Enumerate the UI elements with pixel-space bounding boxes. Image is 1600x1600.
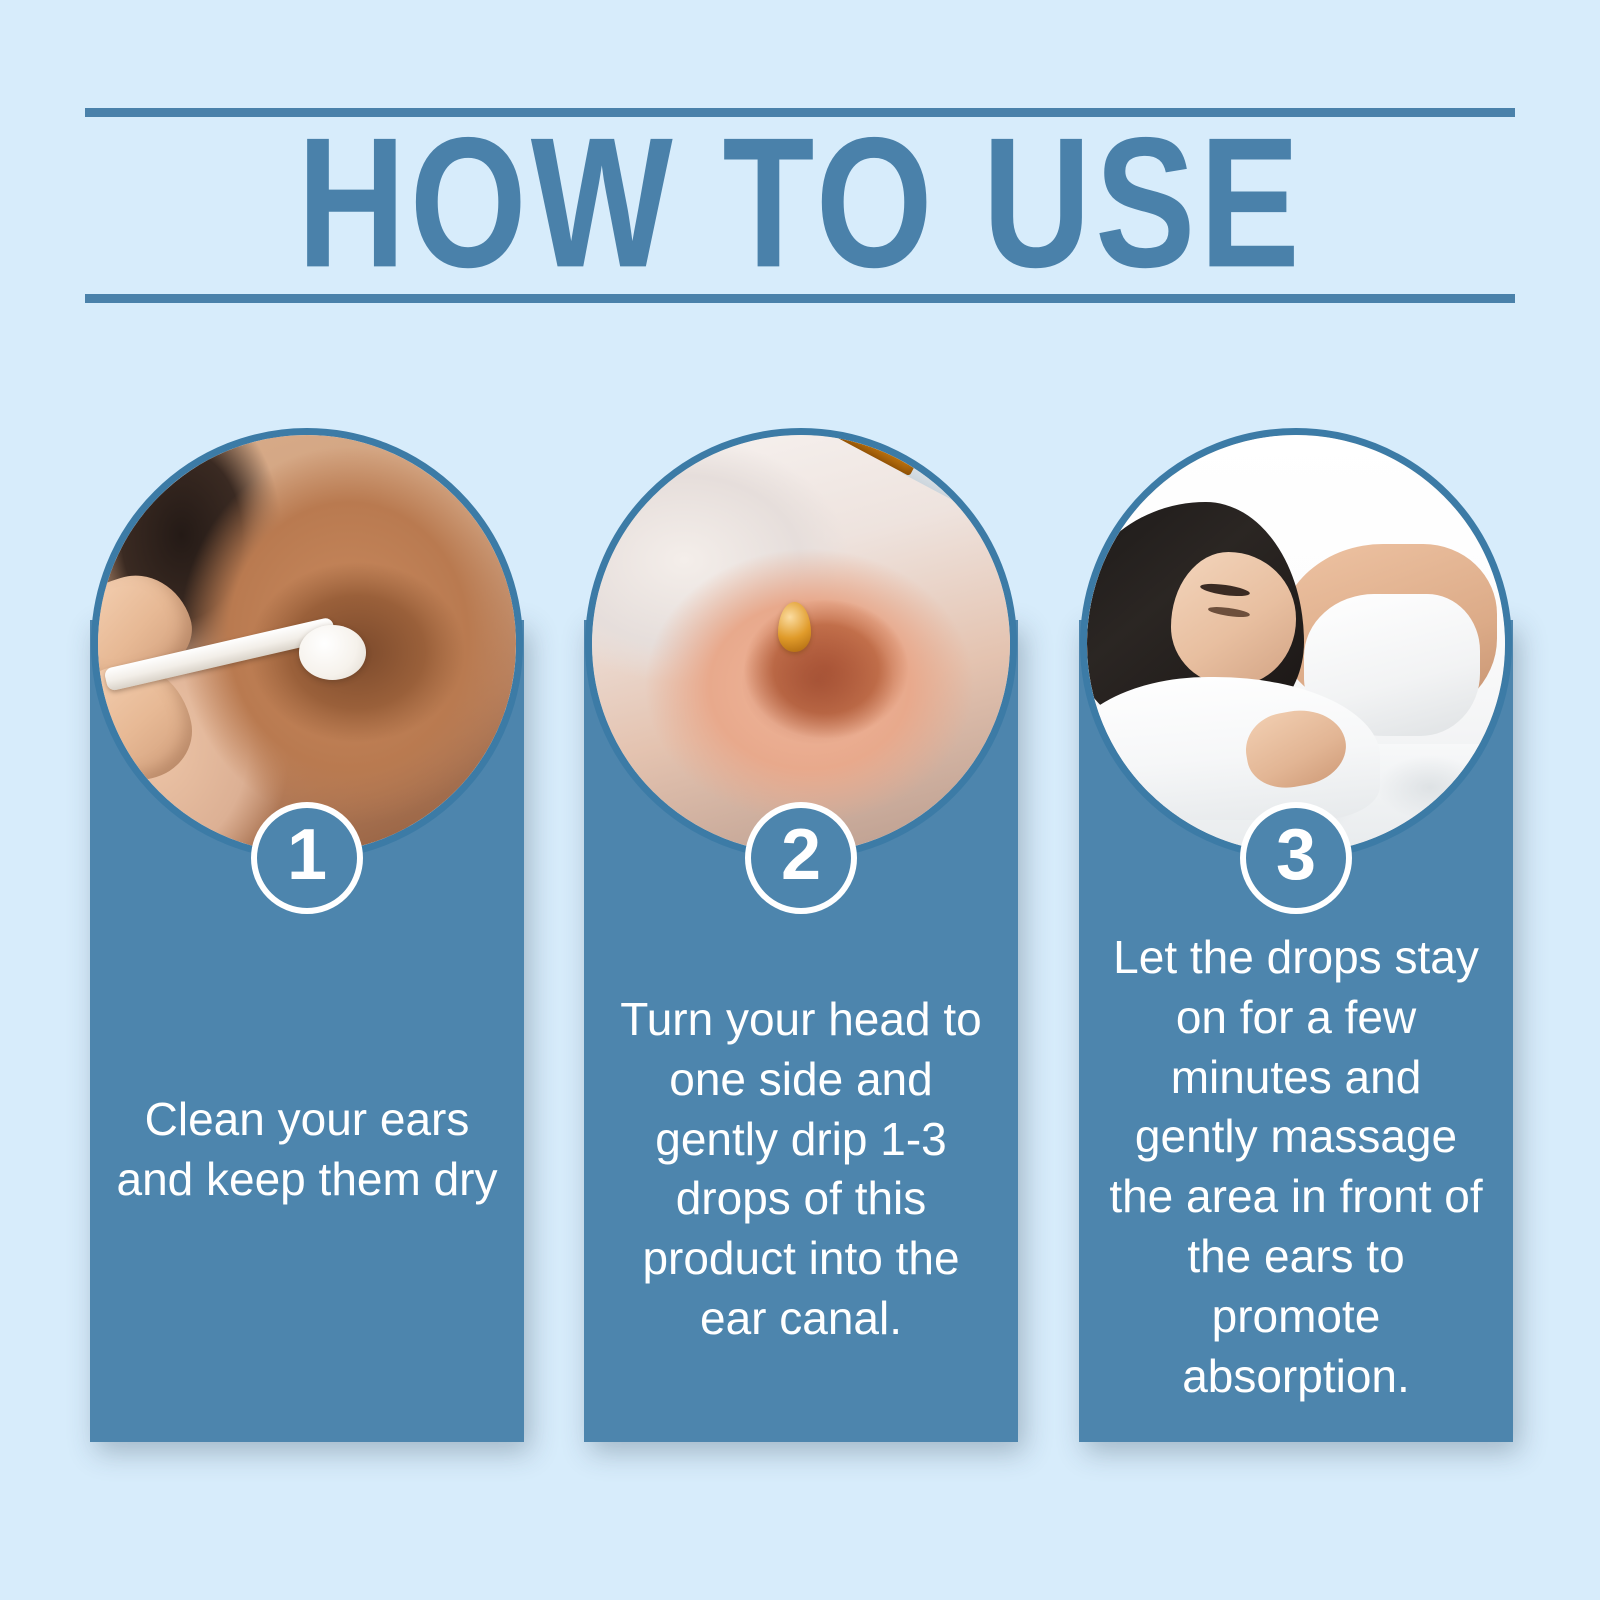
cotton-swab-tip-icon	[299, 625, 366, 679]
step-3-photo-frame	[1080, 428, 1512, 860]
step-number-badge-3: 3	[1240, 802, 1352, 914]
step-3-description: Let the drops stay on for a few minutes …	[1105, 928, 1487, 1406]
dropper-pipette-icon	[821, 435, 1010, 520]
step-2-photo-frame	[585, 428, 1017, 860]
step-number-2: 2	[781, 819, 821, 891]
face-shape	[1171, 552, 1296, 686]
step-number-3: 3	[1276, 819, 1316, 891]
dropper-applying-drops-into-ear-photo	[592, 435, 1010, 853]
step-number-badge-2: 2	[745, 802, 857, 914]
woman-sleeping-on-pillow-photo	[1087, 435, 1505, 853]
step-card-3[interactable]: 3 Let the drops stay on for a few minute…	[1079, 620, 1513, 1442]
steps-container: 1 Clean your ears and keep them dry 2 Tu…	[0, 0, 1600, 1600]
step-card-1[interactable]: 1 Clean your ears and keep them dry	[90, 620, 524, 1442]
step-2-description: Turn your head to one side and gently dr…	[610, 990, 992, 1349]
ear-canal-shadow	[742, 619, 892, 744]
step-number-badge-1: 1	[251, 802, 363, 914]
step-number-1: 1	[287, 819, 327, 891]
liquid-drop-icon	[778, 602, 811, 652]
ear-cleaning-with-cotton-swab-photo	[98, 435, 516, 853]
step-1-description: Clean your ears and keep them dry	[116, 1090, 498, 1210]
step-card-2[interactable]: 2 Turn your head to one side and gently …	[584, 620, 1018, 1442]
step-1-photo-frame	[91, 428, 523, 860]
